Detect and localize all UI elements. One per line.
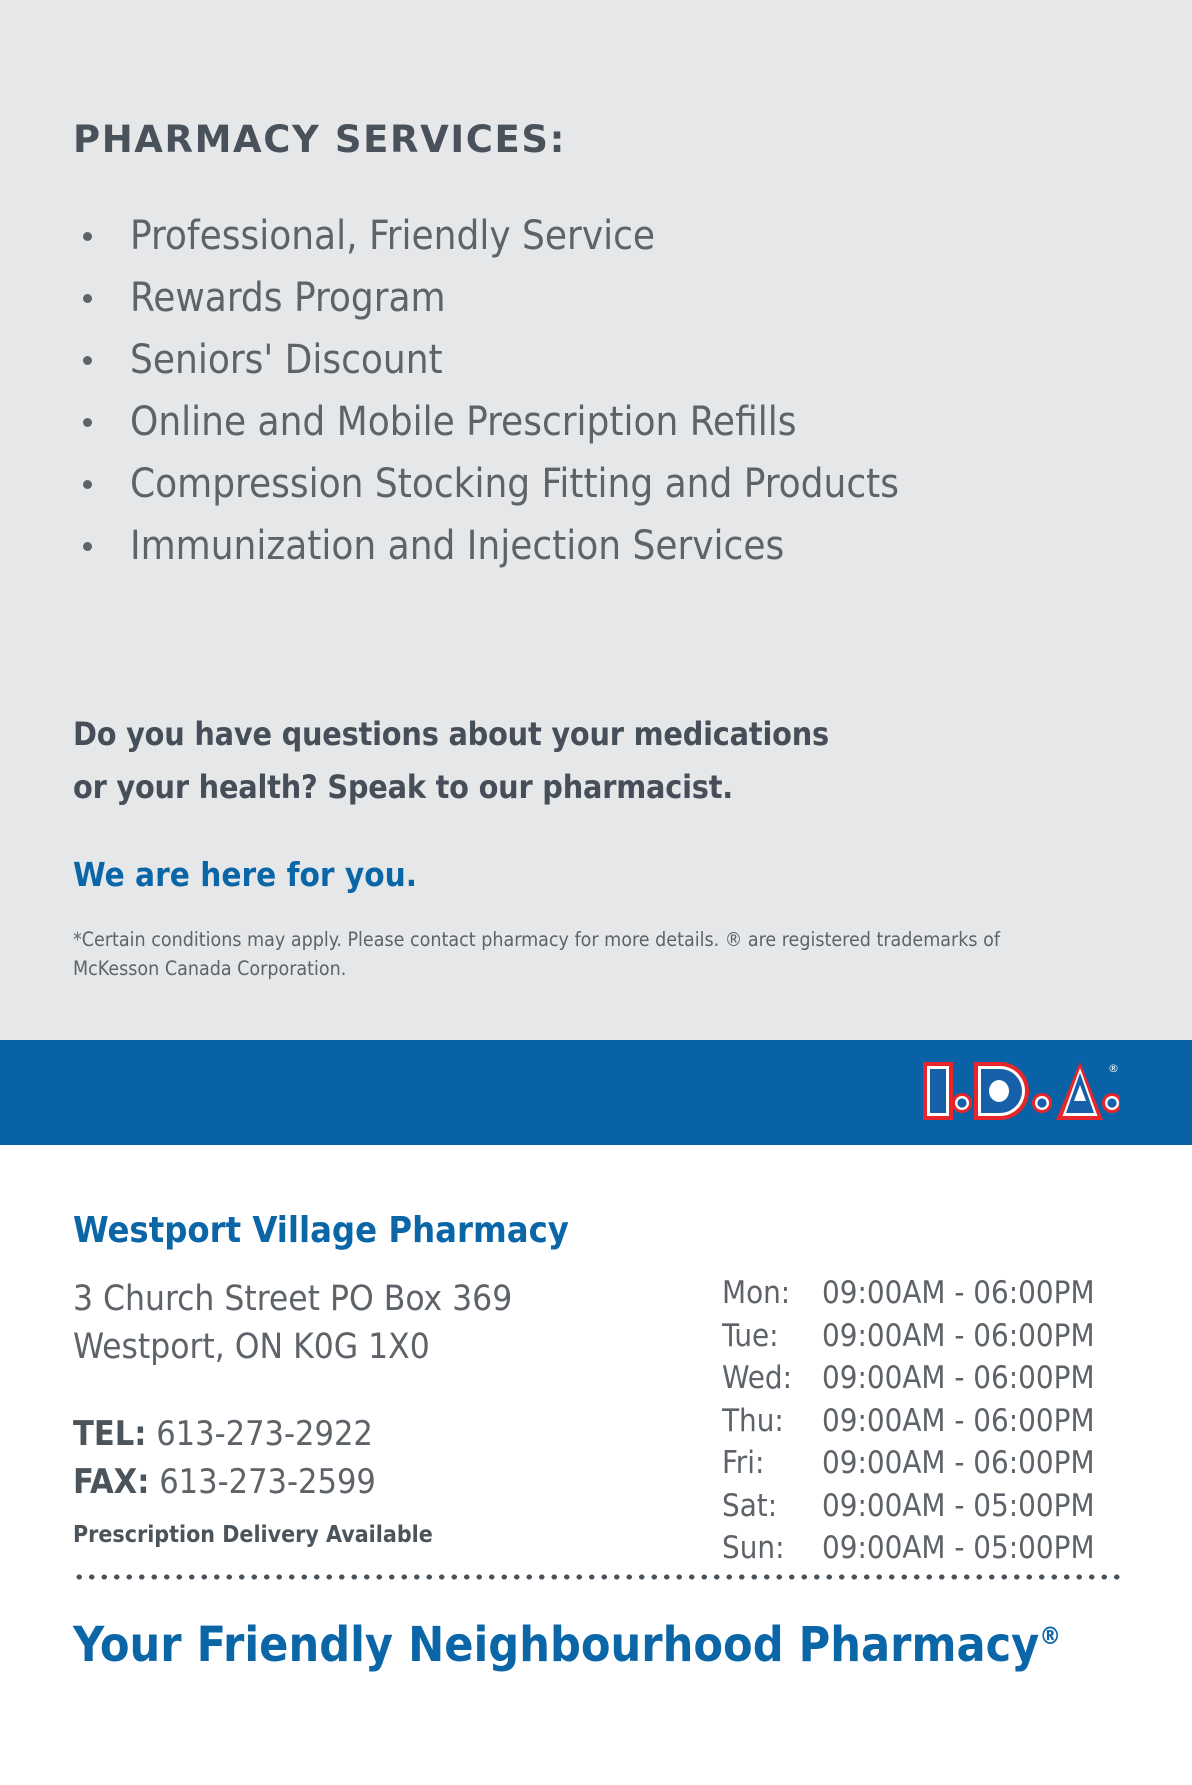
list-item-label: Rewards Program bbox=[130, 275, 446, 321]
pharmacist-question-line1: Do you have questions about your medicat… bbox=[73, 708, 829, 761]
bullet-icon bbox=[83, 542, 92, 551]
disclaimer-text: *Certain conditions may apply. Please co… bbox=[73, 925, 1073, 983]
delivery-note: Prescription Delivery Available bbox=[73, 1522, 433, 1548]
list-item-label: Immunization and Injection Services bbox=[130, 523, 784, 569]
bullet-icon bbox=[83, 480, 92, 489]
telephone-row: TEL: 613-273-2922 bbox=[73, 1410, 376, 1458]
bullet-icon bbox=[83, 356, 92, 365]
callout-text: We are here for you. bbox=[73, 855, 417, 894]
pharmacist-question: Do you have questions about your medicat… bbox=[73, 708, 829, 814]
list-item: Professional, Friendly Service bbox=[73, 205, 1073, 267]
hours-day-label: Thu: bbox=[722, 1400, 822, 1443]
list-item-label: Professional, Friendly Service bbox=[130, 213, 655, 259]
list-item: Compression Stocking Fitting and Product… bbox=[73, 453, 1073, 515]
hours-day-label: Sun: bbox=[722, 1527, 822, 1570]
telephone-label: TEL: bbox=[73, 1414, 147, 1454]
hours-time-value: 09:00AM - 05:00PM bbox=[822, 1485, 1095, 1528]
list-item-label: Compression Stocking Fitting and Product… bbox=[130, 461, 899, 507]
hours-row: Tue: 09:00AM - 06:00PM bbox=[722, 1315, 1095, 1358]
hours-time-value: 09:00AM - 05:00PM bbox=[822, 1527, 1095, 1570]
store-hours-table: Mon: 09:00AM - 06:00PM Tue: 09:00AM - 06… bbox=[722, 1272, 1095, 1570]
services-list: Professional, Friendly Service Rewards P… bbox=[73, 205, 1073, 577]
list-item-label: Online and Mobile Prescription Refills bbox=[130, 399, 797, 445]
hours-time-value: 09:00AM - 06:00PM bbox=[822, 1400, 1095, 1443]
hours-row: Thu: 09:00AM - 06:00PM bbox=[722, 1400, 1095, 1443]
hours-row: Sun: 09:00AM - 05:00PM bbox=[722, 1527, 1095, 1570]
bullet-icon bbox=[83, 232, 92, 241]
hours-row: Sat: 09:00AM - 05:00PM bbox=[722, 1485, 1095, 1528]
pharmacist-question-line2: or your health? Speak to our pharmacist. bbox=[73, 761, 829, 814]
brand-banner: ® bbox=[0, 1040, 1192, 1145]
hours-time-value: 09:00AM - 06:00PM bbox=[822, 1357, 1095, 1400]
services-panel: PHARMACY SERVICES: Professional, Friendl… bbox=[0, 0, 1192, 1040]
hours-row: Wed: 09:00AM - 06:00PM bbox=[722, 1357, 1095, 1400]
store-name: Westport Village Pharmacy bbox=[73, 1210, 569, 1251]
hours-time-value: 09:00AM - 06:00PM bbox=[822, 1272, 1095, 1315]
list-item-label: Seniors' Discount bbox=[130, 337, 443, 383]
page-title: PHARMACY SERVICES: bbox=[73, 118, 566, 161]
tagline-text: Your Friendly Neighbourhood Pharmacy bbox=[73, 1617, 1039, 1673]
fax-value[interactable]: 613-273-2599 bbox=[159, 1462, 376, 1502]
list-item: Seniors' Discount bbox=[73, 329, 1073, 391]
list-item: Online and Mobile Prescription Refills bbox=[73, 391, 1073, 453]
fax-row: FAX: 613-273-2599 bbox=[73, 1458, 376, 1506]
hours-day-label: Tue: bbox=[722, 1315, 822, 1358]
hours-row: Mon: 09:00AM - 06:00PM bbox=[722, 1272, 1095, 1315]
hours-day-label: Mon: bbox=[722, 1272, 822, 1315]
store-address: 3 Church Street PO Box 369 Westport, ON … bbox=[73, 1275, 512, 1371]
address-line-1: 3 Church Street PO Box 369 bbox=[73, 1275, 512, 1323]
telephone-value[interactable]: 613-273-2922 bbox=[156, 1414, 373, 1454]
hours-time-value: 09:00AM - 06:00PM bbox=[822, 1315, 1095, 1358]
registered-mark: ® bbox=[1039, 1622, 1061, 1650]
ida-logo-icon: ® bbox=[920, 1056, 1120, 1130]
store-contact: TEL: 613-273-2922 FAX: 613-273-2599 bbox=[73, 1410, 376, 1506]
fax-label: FAX: bbox=[73, 1462, 150, 1502]
dotted-divider bbox=[73, 1573, 1121, 1581]
list-item: Immunization and Injection Services bbox=[73, 515, 1073, 577]
bullet-icon bbox=[83, 294, 92, 303]
list-item: Rewards Program bbox=[73, 267, 1073, 329]
hours-row: Fri: 09:00AM - 06:00PM bbox=[722, 1442, 1095, 1485]
hours-day-label: Fri: bbox=[722, 1442, 822, 1485]
bullet-icon bbox=[83, 418, 92, 427]
tagline: Your Friendly Neighbourhood Pharmacy® bbox=[73, 1617, 1061, 1673]
hours-time-value: 09:00AM - 06:00PM bbox=[822, 1442, 1095, 1485]
address-line-2: Westport, ON K0G 1X0 bbox=[73, 1323, 512, 1371]
svg-text:®: ® bbox=[1108, 1062, 1119, 1075]
hours-day-label: Wed: bbox=[722, 1357, 822, 1400]
hours-day-label: Sat: bbox=[722, 1485, 822, 1528]
